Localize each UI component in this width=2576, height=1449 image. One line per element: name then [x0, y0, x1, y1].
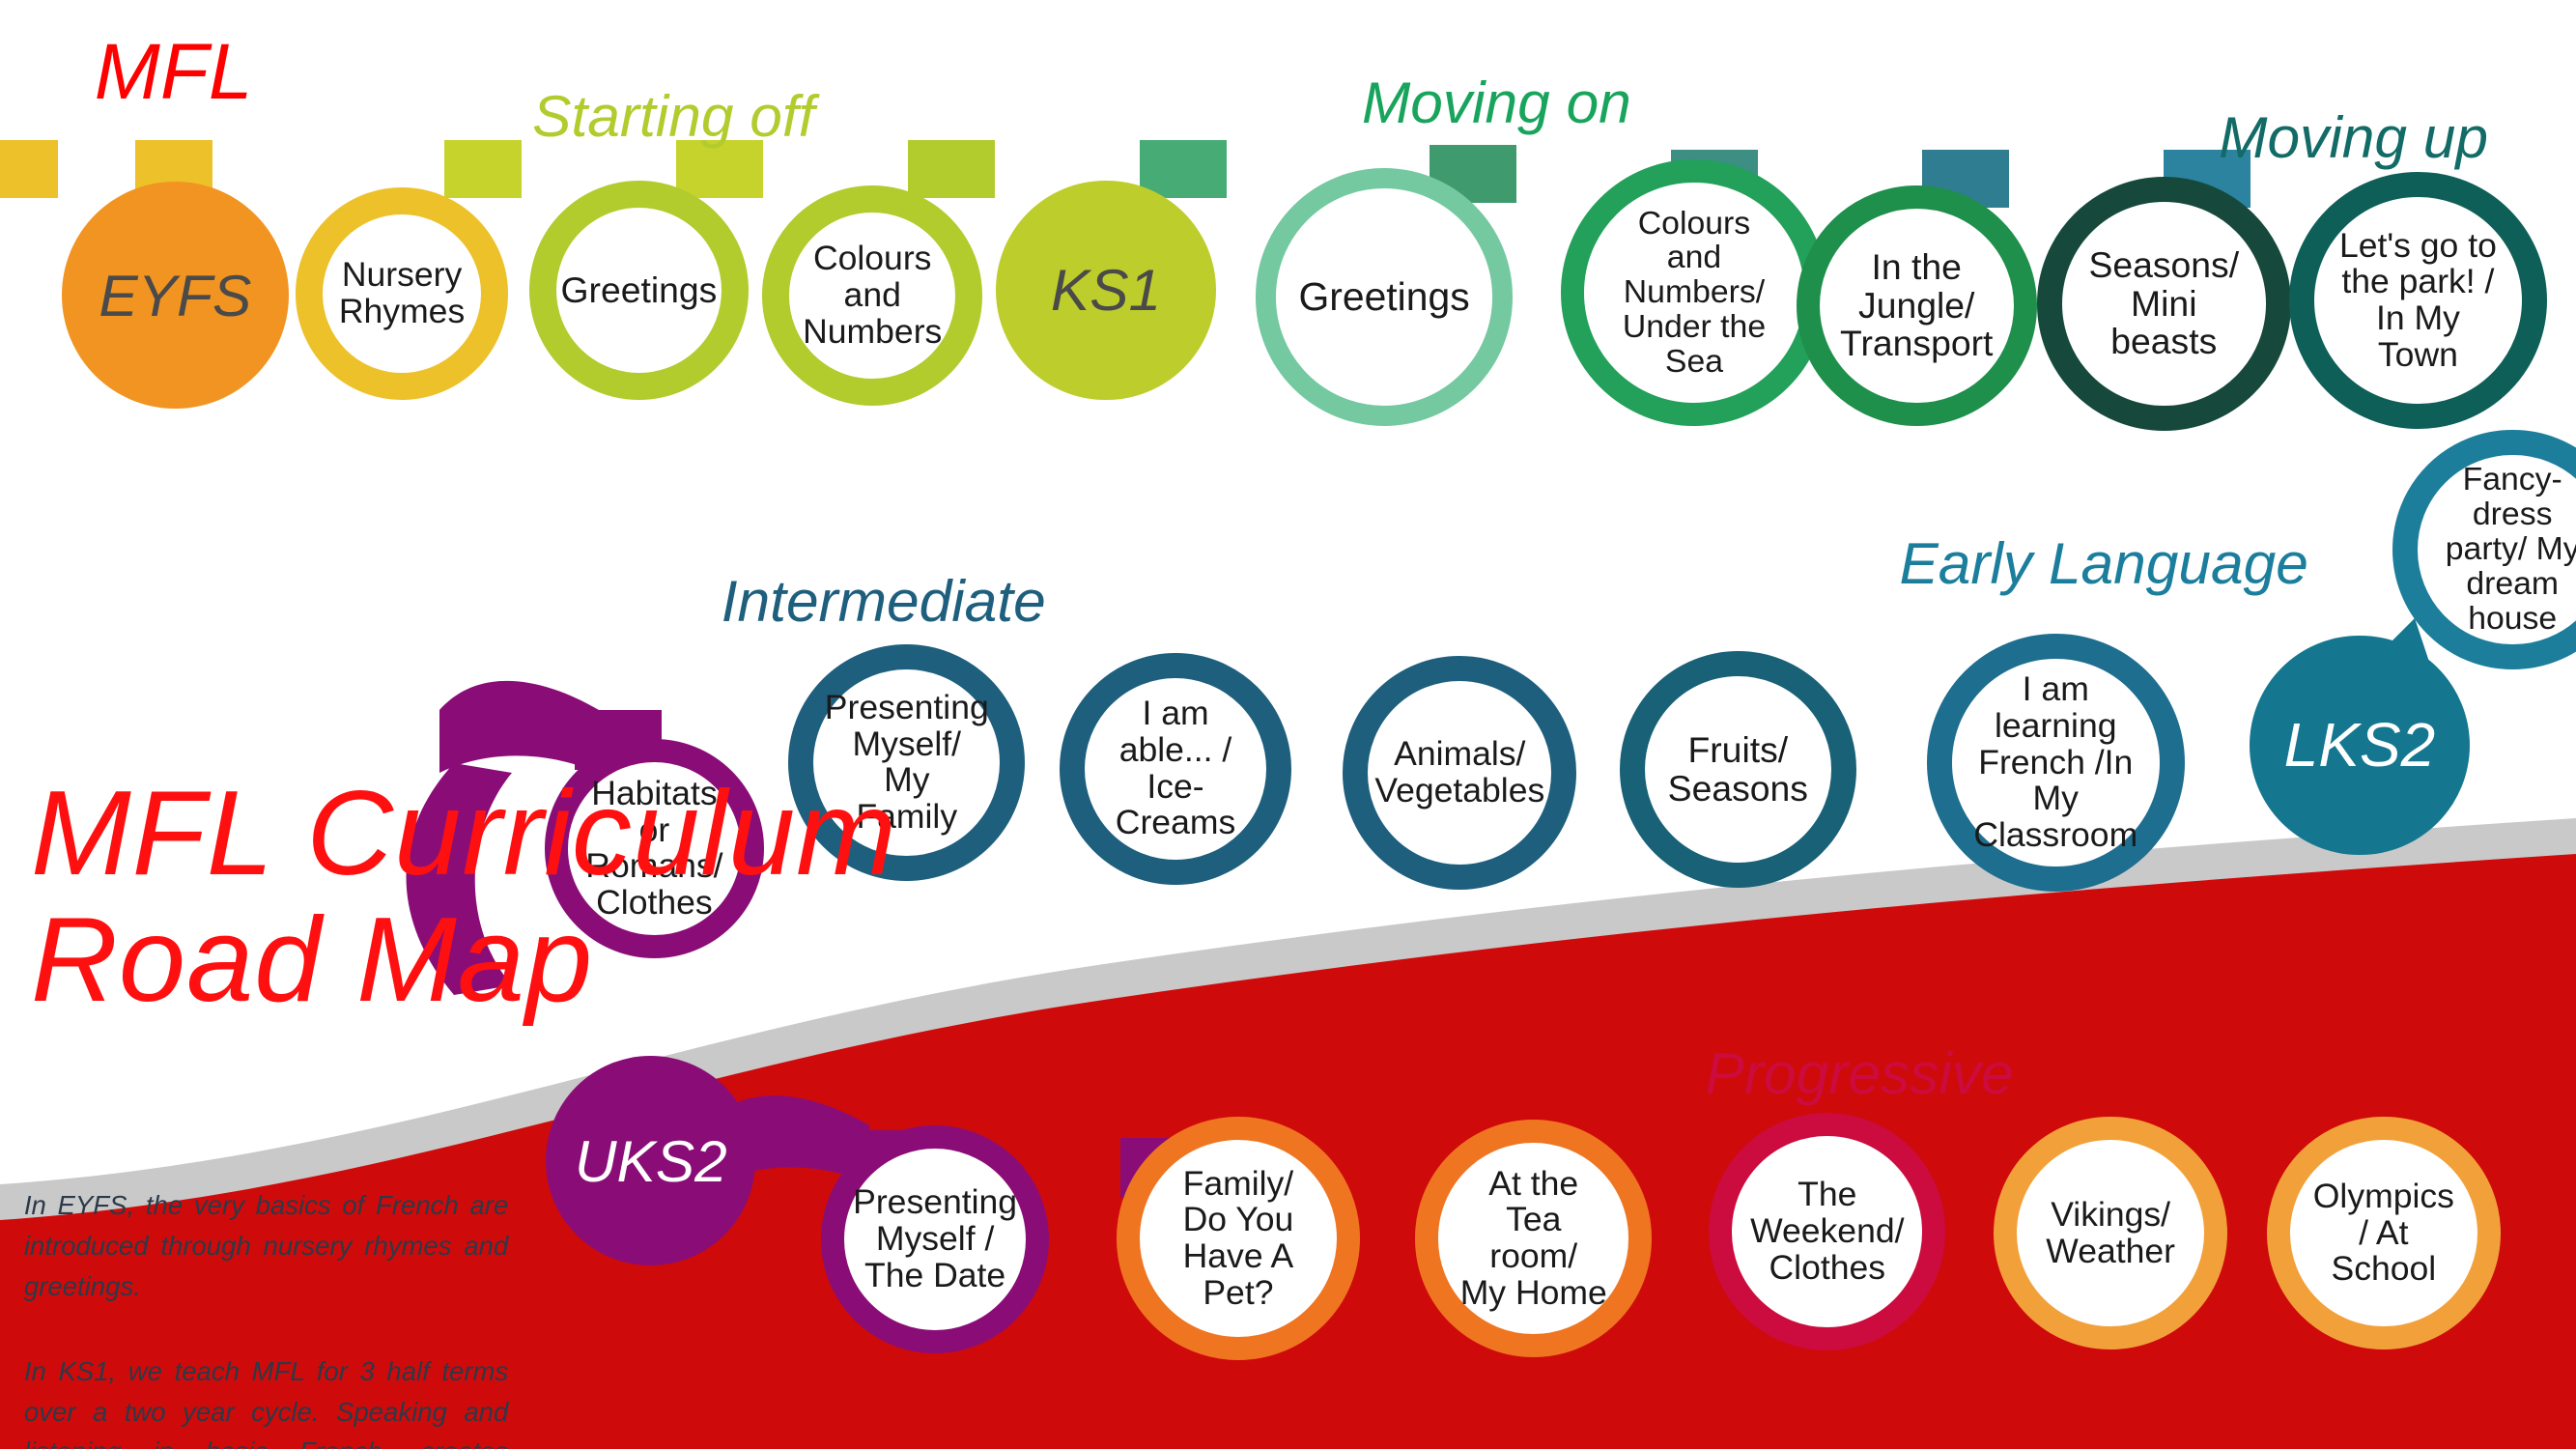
bar-4 — [908, 140, 995, 198]
intro-paragraph-eyfs: In EYFS, the very basics of French are i… — [24, 1185, 508, 1307]
node-label: Colours and Numbers — [797, 239, 948, 352]
caption-starting-off: Starting off — [532, 82, 814, 150]
node-vikings-weather[interactable]: Vikings/ Weather — [1994, 1117, 2227, 1350]
node-label: Fancy- dress party/ My dream house — [2440, 461, 2576, 638]
bar-habitat-curve — [439, 681, 599, 773]
intro-text-block: In EYFS, the very basics of French are i… — [24, 1185, 508, 1449]
node-presenting-myself-the-date[interactable]: Presenting Myself / The Date — [821, 1125, 1049, 1353]
bar-2 — [444, 140, 522, 198]
node-uks2[interactable]: UKS2 — [546, 1056, 755, 1265]
node-label: The Weekend/ Clothes — [1744, 1175, 1910, 1288]
node-label: Colours and Numbers/ Under the Sea — [1617, 205, 1771, 382]
page-title-line1: MFL Curriculum — [31, 770, 1439, 897]
node-greetings-ks1[interactable]: Greetings — [1256, 168, 1514, 426]
intro-paragraph-ks1: In KS1, we teach MFL for 3 half terms ov… — [24, 1351, 508, 1449]
node-in-the-jungle-transport[interactable]: In the Jungle/ Transport — [1797, 185, 2037, 426]
caption-moving-on: Moving on — [1362, 69, 1631, 136]
node-colours-numbers-under-the-sea[interactable]: Colours and Numbers/ Under the Sea — [1561, 159, 1827, 426]
node-colours-and-numbers-eyfs[interactable]: Colours and Numbers — [762, 185, 982, 406]
node-label: KS1 — [1045, 257, 1167, 323]
node-label: Olympics / At School — [2307, 1177, 2460, 1290]
node-seasons-mini-beasts[interactable]: Seasons/ Mini beasts — [2037, 177, 2291, 431]
mfl-curriculum-road-map-poster: Starting off Moving on Moving up Interme… — [0, 0, 2576, 1449]
node-label: I am learning French /In My Classroom — [1967, 669, 2143, 855]
node-label: Family/ Do You Have A Pet? — [1177, 1164, 1300, 1314]
node-label: EYFS — [93, 263, 257, 328]
node-label: Fruits/ Seasons — [1662, 729, 1814, 810]
node-label: In the Jungle/ Transport — [1834, 246, 1998, 365]
node-greetings-eyfs[interactable]: Greetings — [529, 181, 750, 401]
bar-5 — [1140, 140, 1227, 198]
node-label: Seasons/ Mini beasts — [2082, 244, 2245, 363]
node-label: Greetings — [1292, 274, 1475, 320]
node-label: Vikings/ Weather — [2040, 1195, 2181, 1271]
mfl-tag: MFL — [95, 27, 253, 118]
page-title-line2: Road Map — [31, 896, 1439, 1024]
node-family-do-you-have-a-pet[interactable]: Family/ Do You Have A Pet? — [1117, 1117, 1360, 1360]
node-ks1[interactable]: KS1 — [996, 181, 1216, 401]
node-at-the-tea-room-my-home[interactable]: At the Tea room/ My Home — [1415, 1120, 1652, 1356]
node-label: Nursery Rhymes — [333, 255, 470, 331]
node-olympics-at-school[interactable]: Olympics / At School — [2267, 1117, 2501, 1350]
node-nursery-rhymes[interactable]: Nursery Rhymes — [296, 187, 508, 400]
node-eyfs[interactable]: EYFS — [62, 182, 289, 409]
node-label: LKS2 — [2279, 711, 2442, 781]
node-lks2[interactable]: LKS2 — [2250, 636, 2470, 856]
node-label: UKS2 — [569, 1128, 733, 1194]
node-label: At the Tea room/ My Home — [1455, 1164, 1613, 1314]
node-the-weekend-clothes[interactable]: The Weekend/ Clothes — [1709, 1113, 1945, 1350]
node-fancy-dress-party-my-dream-house[interactable]: Fancy- dress party/ My dream house — [2392, 430, 2576, 670]
caption-intermediate: Intermediate — [722, 567, 1046, 635]
page-title: MFL Curriculum Road Map — [31, 770, 1439, 1025]
caption-moving-up: Moving up — [2219, 103, 2488, 171]
node-label: Let's go to the park! / In My Town — [2334, 226, 2503, 376]
caption-progressive: Progressive — [1706, 1039, 2014, 1107]
caption-early-language: Early Language — [1899, 529, 2307, 597]
node-fruits-seasons[interactable]: Fruits/ Seasons — [1620, 651, 1856, 888]
node-label: Presenting Myself / The Date — [847, 1182, 1023, 1295]
node-lets-go-to-the-park-in-my-town[interactable]: Let's go to the park! / In My Town — [2289, 172, 2547, 430]
node-i-am-learning-french-in-my-classroom[interactable]: I am learning French /In My Classroom — [1927, 634, 2185, 892]
bar-eyfs-left — [0, 140, 58, 198]
node-label: Greetings — [554, 270, 722, 312]
